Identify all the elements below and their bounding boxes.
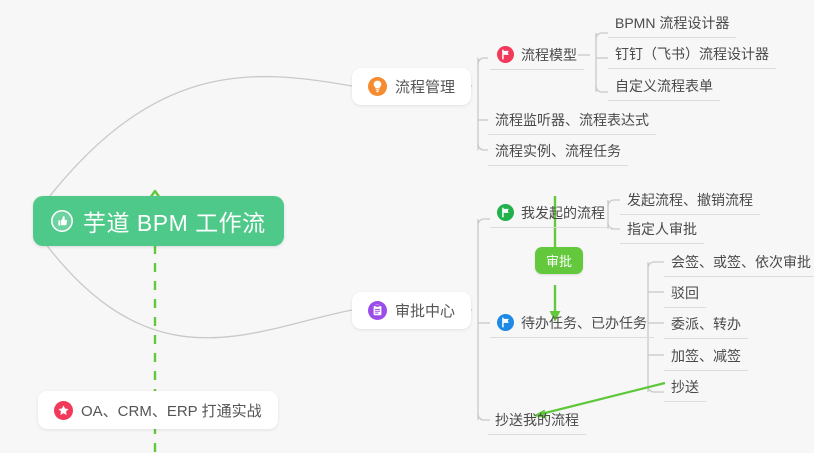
leaf-dingtalk-feishu-designer[interactable]: 钉钉（飞书）流程设计器: [608, 39, 776, 69]
leaf-label: 会签、或签、依次审批: [671, 252, 811, 272]
branch-process-management[interactable]: 流程管理: [352, 68, 471, 105]
leaf-label: 自定义流程表单: [615, 76, 713, 96]
node-label: 待办任务、已办任务: [521, 313, 647, 333]
leaf-start-cancel-process[interactable]: 发起流程、撤销流程: [620, 185, 760, 215]
link-pmodel-corner-top: [596, 33, 608, 39]
leaf-label: 驳回: [671, 283, 699, 303]
node-cc-to-me-process[interactable]: 抄送我的流程: [488, 405, 586, 435]
leaf-reject[interactable]: 驳回: [664, 278, 706, 308]
thumbs-up-icon: [51, 210, 73, 232]
root-node[interactable]: 芋道 BPM 工作流: [33, 196, 284, 246]
flag-icon: [497, 204, 514, 221]
mindmap-canvas: 芋道 BPM 工作流 流程管理 流程模型 BPMN 流程设计器 钉钉（飞书: [0, 0, 814, 453]
leaf-label: BPMN 流程设计器: [615, 13, 729, 33]
clipboard-icon: [368, 301, 387, 320]
leaf-counter-or-sequential-sign[interactable]: 会签、或签、依次审批: [664, 247, 814, 277]
node-label: 流程实例、流程任务: [495, 141, 621, 161]
leaf-label: 抄送: [671, 377, 699, 397]
approval-badge-label: 审批: [546, 251, 572, 270]
node-label: 流程监听器、流程表达式: [495, 110, 649, 130]
approval-badge: 审批: [535, 247, 583, 274]
link-todo-corner-top: [648, 262, 664, 268]
link-root-to-process-management: [36, 77, 352, 214]
node-label: 流程模型: [521, 45, 577, 65]
node-instance-task[interactable]: 流程实例、流程任务: [488, 136, 628, 166]
leaf-custom-process-form[interactable]: 自定义流程表单: [608, 71, 720, 101]
leaf-assignee-approval[interactable]: 指定人审批: [620, 214, 704, 244]
leaf-label: 发起流程、撤销流程: [627, 190, 753, 210]
leaf-label: 指定人审批: [627, 219, 697, 239]
leaf-add-remove-sign[interactable]: 加签、减签: [664, 341, 748, 371]
link-todo-corner-bottom: [648, 386, 664, 392]
link-pm-corner-top: [478, 58, 488, 64]
bottom-note-card[interactable]: OA、CRM、ERP 打通实战: [38, 391, 278, 429]
node-todo-done-task[interactable]: 待办任务、已办任务: [490, 308, 654, 338]
node-label: 我发起的流程: [521, 203, 605, 223]
branch-approval-center[interactable]: 审批中心: [352, 292, 471, 329]
link-ac-corner-top: [478, 219, 490, 225]
root-label: 芋道 BPM 工作流: [83, 204, 266, 238]
node-label: 抄送我的流程: [495, 410, 579, 430]
leaf-cc[interactable]: 抄送: [664, 372, 706, 402]
branch-label: 流程管理: [395, 76, 455, 97]
node-process-model[interactable]: 流程模型: [490, 40, 584, 70]
link-root-to-approval-center: [36, 231, 352, 338]
link-pm-corner-bottom: [478, 144, 488, 150]
link-pmodel-corner-bottom: [596, 86, 608, 92]
lightbulb-icon: [368, 77, 387, 96]
bottom-note-label: OA、CRM、ERP 打通实战: [81, 400, 262, 421]
leaf-label: 加签、减签: [671, 346, 741, 366]
flag-icon: [497, 46, 514, 63]
leaf-bpmn-designer[interactable]: BPMN 流程设计器: [608, 8, 736, 38]
leaf-label: 钉钉（飞书）流程设计器: [615, 44, 769, 64]
branch-label: 审批中心: [395, 300, 455, 321]
flag-icon: [497, 314, 514, 331]
star-icon: [54, 401, 73, 420]
node-listener-expression[interactable]: 流程监听器、流程表达式: [488, 105, 656, 135]
leaf-delegate-transfer[interactable]: 委派、转办: [664, 309, 748, 339]
node-my-started-process[interactable]: 我发起的流程: [490, 198, 612, 228]
leaf-label: 委派、转办: [671, 314, 741, 334]
